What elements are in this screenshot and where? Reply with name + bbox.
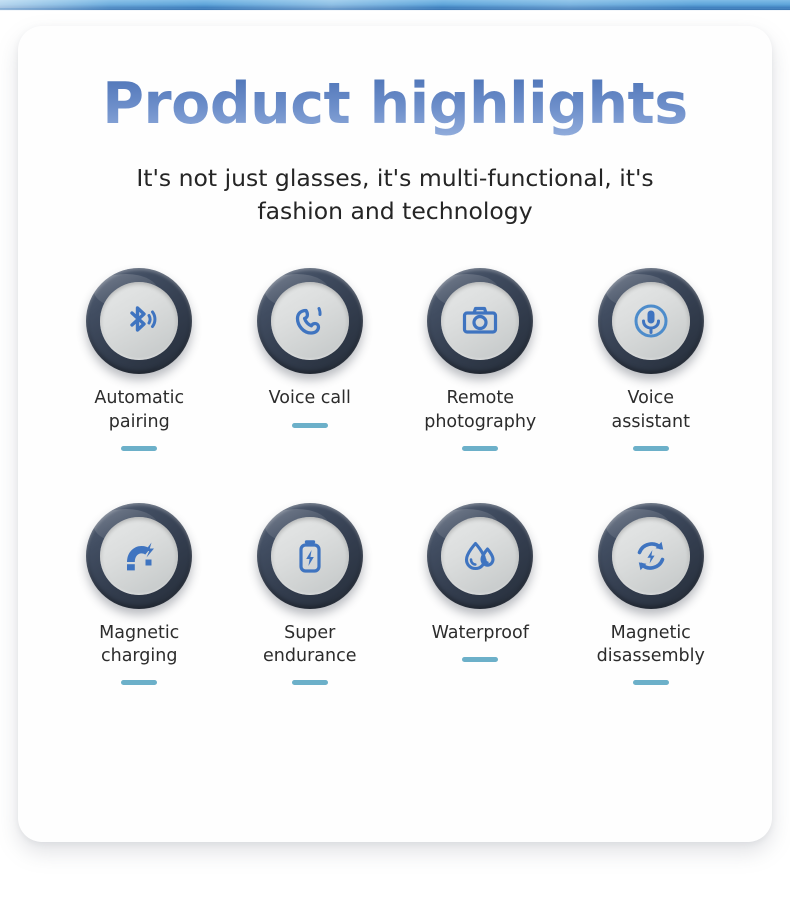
feature-underline xyxy=(633,446,669,451)
feature-super-endurance[interactable]: Super endurance xyxy=(225,503,396,686)
feature-remote-photography[interactable]: Remote photography xyxy=(395,268,566,451)
feature-badge xyxy=(598,503,704,609)
badge-face xyxy=(100,282,178,360)
feature-underline xyxy=(462,657,498,662)
phone-call-icon xyxy=(286,297,334,345)
feature-underline xyxy=(121,446,157,451)
feature-label-line1: Remote xyxy=(446,388,514,408)
feature-label: Automatic pairing xyxy=(94,387,184,434)
badge-face xyxy=(441,517,519,595)
product-highlights-card: Product highlights It's not just glasses… xyxy=(18,26,772,842)
feature-underline xyxy=(462,446,498,451)
feature-magnetic-charging[interactable]: Magnetic charging xyxy=(54,503,225,686)
top-strip-fade xyxy=(0,8,790,11)
feature-badge xyxy=(257,503,363,609)
feature-underline xyxy=(121,680,157,685)
feature-label: Magnetic charging xyxy=(99,622,179,669)
badge-face xyxy=(612,517,690,595)
feature-label-line1: Magnetic xyxy=(99,623,179,643)
feature-label-line2: assistant xyxy=(612,412,690,432)
feature-badge xyxy=(598,268,704,374)
microphone-icon xyxy=(627,297,675,345)
feature-label: Voice call xyxy=(269,387,351,410)
feature-label: Waterproof xyxy=(432,622,529,645)
page-subtitle: It's not just glasses, it's multi-functi… xyxy=(95,162,695,229)
feature-label-line2: disassembly xyxy=(597,646,705,666)
feature-label: Voice assistant xyxy=(612,387,690,434)
camera-icon xyxy=(456,297,504,345)
feature-magnetic-disassembly[interactable]: Magnetic disassembly xyxy=(566,503,737,686)
feature-label-line1: Super xyxy=(284,623,335,643)
feature-voice-assistant[interactable]: Voice assistant xyxy=(566,268,737,451)
feature-label-line1: Waterproof xyxy=(432,623,529,643)
feature-automatic-pairing[interactable]: Automatic pairing xyxy=(54,268,225,451)
badge-face xyxy=(612,282,690,360)
feature-label: Remote photography xyxy=(424,387,536,434)
battery-bolt-icon xyxy=(286,532,334,580)
feature-label-line1: Automatic xyxy=(94,388,184,408)
badge-face xyxy=(271,517,349,595)
bluetooth-icon xyxy=(115,297,163,345)
feature-label-line2: photography xyxy=(424,412,536,432)
magnet-charging-icon xyxy=(115,532,163,580)
feature-badge xyxy=(427,503,533,609)
feature-voice-call[interactable]: Voice call xyxy=(225,268,396,451)
feature-badge xyxy=(86,503,192,609)
feature-label-line2: endurance xyxy=(263,646,356,666)
page-title: Product highlights xyxy=(18,26,772,138)
water-drops-icon xyxy=(456,532,504,580)
feature-badge xyxy=(86,268,192,374)
feature-badge xyxy=(257,268,363,374)
feature-underline xyxy=(292,423,328,428)
badge-face xyxy=(271,282,349,360)
feature-underline xyxy=(633,680,669,685)
feature-underline xyxy=(292,680,328,685)
feature-label: Magnetic disassembly xyxy=(597,622,705,669)
feature-label-line1: Voice call xyxy=(269,388,351,408)
badge-face xyxy=(441,282,519,360)
feature-label-line2: pairing xyxy=(109,412,170,432)
feature-badge xyxy=(427,268,533,374)
feature-label-line1: Voice xyxy=(627,388,674,408)
badge-face xyxy=(100,517,178,595)
feature-label-line1: Magnetic xyxy=(611,623,691,643)
feature-waterproof[interactable]: Waterproof xyxy=(395,503,566,686)
magnetic-disassembly-icon xyxy=(627,532,675,580)
feature-grid: Automatic pairing Voice call xyxy=(18,268,772,685)
feature-label-line2: charging xyxy=(101,646,178,666)
feature-label: Super endurance xyxy=(263,622,356,669)
